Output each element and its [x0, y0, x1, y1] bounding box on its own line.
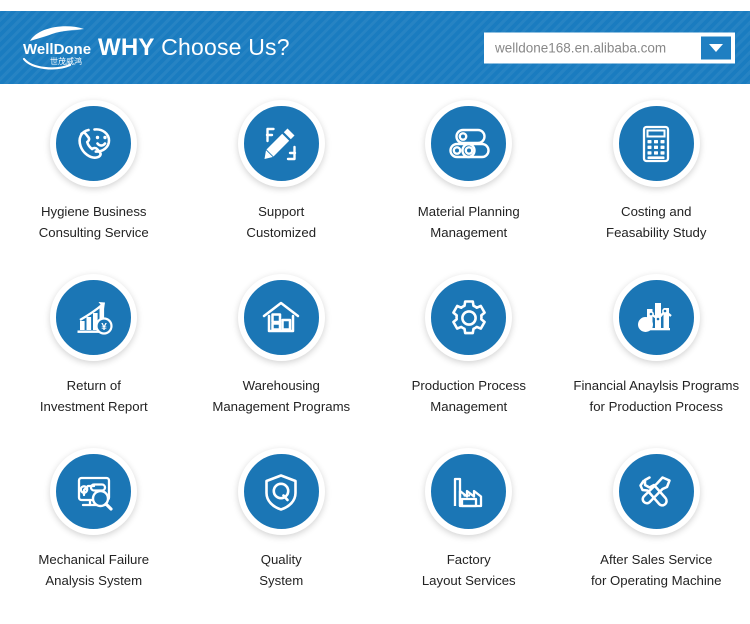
svg-text:WellDone: WellDone [23, 41, 91, 58]
growth-chart-yen-icon: ¥ [50, 274, 137, 361]
why-choose-us-banner-page: WellDone 世茂威鸿 WHY Choose Us? welldone168… [0, 0, 750, 624]
feature-item[interactable]: After Sales Service for Operating Machin… [563, 440, 750, 614]
warehouse-house-icon [238, 274, 325, 361]
chevron-down-icon[interactable] [701, 36, 731, 59]
phone-smiley-icon [50, 100, 137, 187]
feature-label: Financial Anaylsis Programs for Producti… [569, 375, 743, 417]
feature-label: Support Customized [242, 201, 320, 243]
welldone-logo: WellDone 世茂威鸿 [22, 21, 104, 71]
feature-item[interactable]: Costing and Feasability Study [563, 92, 750, 266]
monitor-machine-search-icon [50, 448, 137, 535]
feature-grid: Hygiene Business Consulting Service [0, 92, 750, 614]
headline-rest: Choose Us? [155, 34, 290, 60]
gear-icon [425, 274, 512, 361]
headline-bold: WHY [98, 34, 155, 61]
feature-label: Production Process Management [408, 375, 530, 417]
feature-item[interactable]: Production Process Management [375, 266, 563, 440]
shield-q-icon [238, 448, 325, 535]
factory-icon [425, 448, 512, 535]
feature-label: Warehousing Management Programs [208, 375, 354, 417]
feature-item[interactable]: Quality System [188, 440, 376, 614]
feature-label: Hygiene Business Consulting Service [35, 201, 153, 243]
feature-label: Factory Layout Services [418, 549, 520, 591]
svg-text:世茂威鸿: 世茂威鸿 [50, 56, 82, 66]
feature-label: Material Planning Management [414, 201, 524, 243]
calculator-icon [613, 100, 700, 187]
wrench-screwdriver-icon [613, 448, 700, 535]
feature-item[interactable]: ¥ Return of Investment Report [0, 266, 188, 440]
url-selector[interactable]: welldone168.en.alibaba.com [484, 32, 735, 63]
feature-item[interactable]: Financial Anaylsis Programs for Producti… [563, 266, 750, 440]
financial-analysis-icon [613, 274, 700, 361]
feature-item[interactable]: Mechanical Failure Analysis System [0, 440, 188, 614]
feature-label: After Sales Service for Operating Machin… [587, 549, 725, 591]
feature-label: Costing and Feasability Study [602, 201, 710, 243]
page-title: WHY Choose Us? [98, 34, 290, 62]
feature-item[interactable]: Support Customized [188, 92, 376, 266]
feature-item[interactable]: Factory Layout Services [375, 440, 563, 614]
pencil-brackets-icon [238, 100, 325, 187]
feature-label: Mechanical Failure Analysis System [34, 549, 153, 591]
feature-label: Return of Investment Report [36, 375, 152, 417]
feature-label: Quality System [255, 549, 307, 591]
feature-item[interactable]: Hygiene Business Consulting Service [0, 92, 188, 266]
url-selector-value: welldone168.en.alibaba.com [495, 40, 701, 55]
header-banner: WellDone 世茂威鸿 WHY Choose Us? welldone168… [0, 11, 750, 84]
svg-text:¥: ¥ [101, 322, 107, 333]
feature-item[interactable]: Material Planning Management [375, 92, 563, 266]
material-rolls-icon [425, 100, 512, 187]
feature-item[interactable]: Warehousing Management Programs [188, 266, 376, 440]
